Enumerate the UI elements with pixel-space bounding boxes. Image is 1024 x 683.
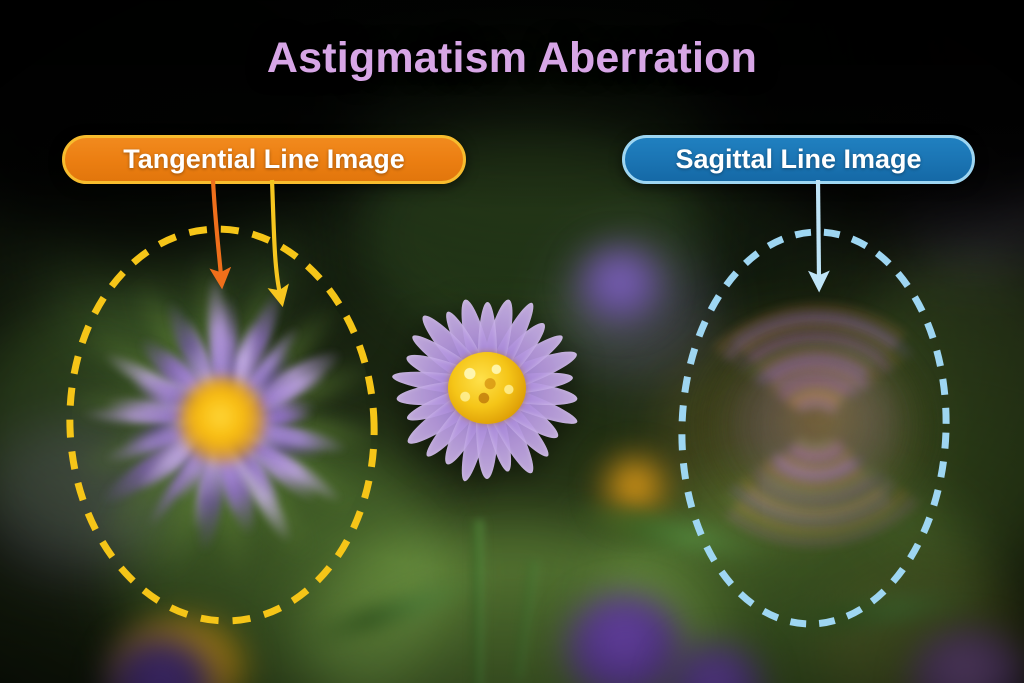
main-flower xyxy=(377,278,597,498)
flower-disc xyxy=(105,637,215,683)
background-flower-purple xyxy=(905,625,1024,683)
sagittal-blur-patch xyxy=(685,260,947,590)
page-title: Astigmatism Aberration xyxy=(0,34,1024,83)
flower-disc xyxy=(665,644,765,683)
background-flower-purple xyxy=(100,632,220,683)
tangential-blur-patch xyxy=(72,250,372,590)
spin-blur-core-wash xyxy=(731,355,901,495)
flower-disc xyxy=(910,630,1024,683)
astigmatism-aberration-illustration: Astigmatism Aberration Tangential Line I… xyxy=(0,0,1024,683)
flower-disc xyxy=(604,458,666,516)
blurred-flower-center xyxy=(179,377,265,463)
sagittal-label-text: Sagittal Line Image xyxy=(675,144,921,175)
tangential-label-text: Tangential Line Image xyxy=(123,144,405,175)
sagittal-line-image-label[interactable]: Sagittal Line Image xyxy=(622,135,975,184)
flower-disc xyxy=(448,352,526,424)
stem xyxy=(470,520,486,683)
tangential-line-image-label[interactable]: Tangential Line Image xyxy=(62,135,466,184)
flower-disc-specks xyxy=(448,352,526,424)
background-flower-purple xyxy=(660,640,770,683)
